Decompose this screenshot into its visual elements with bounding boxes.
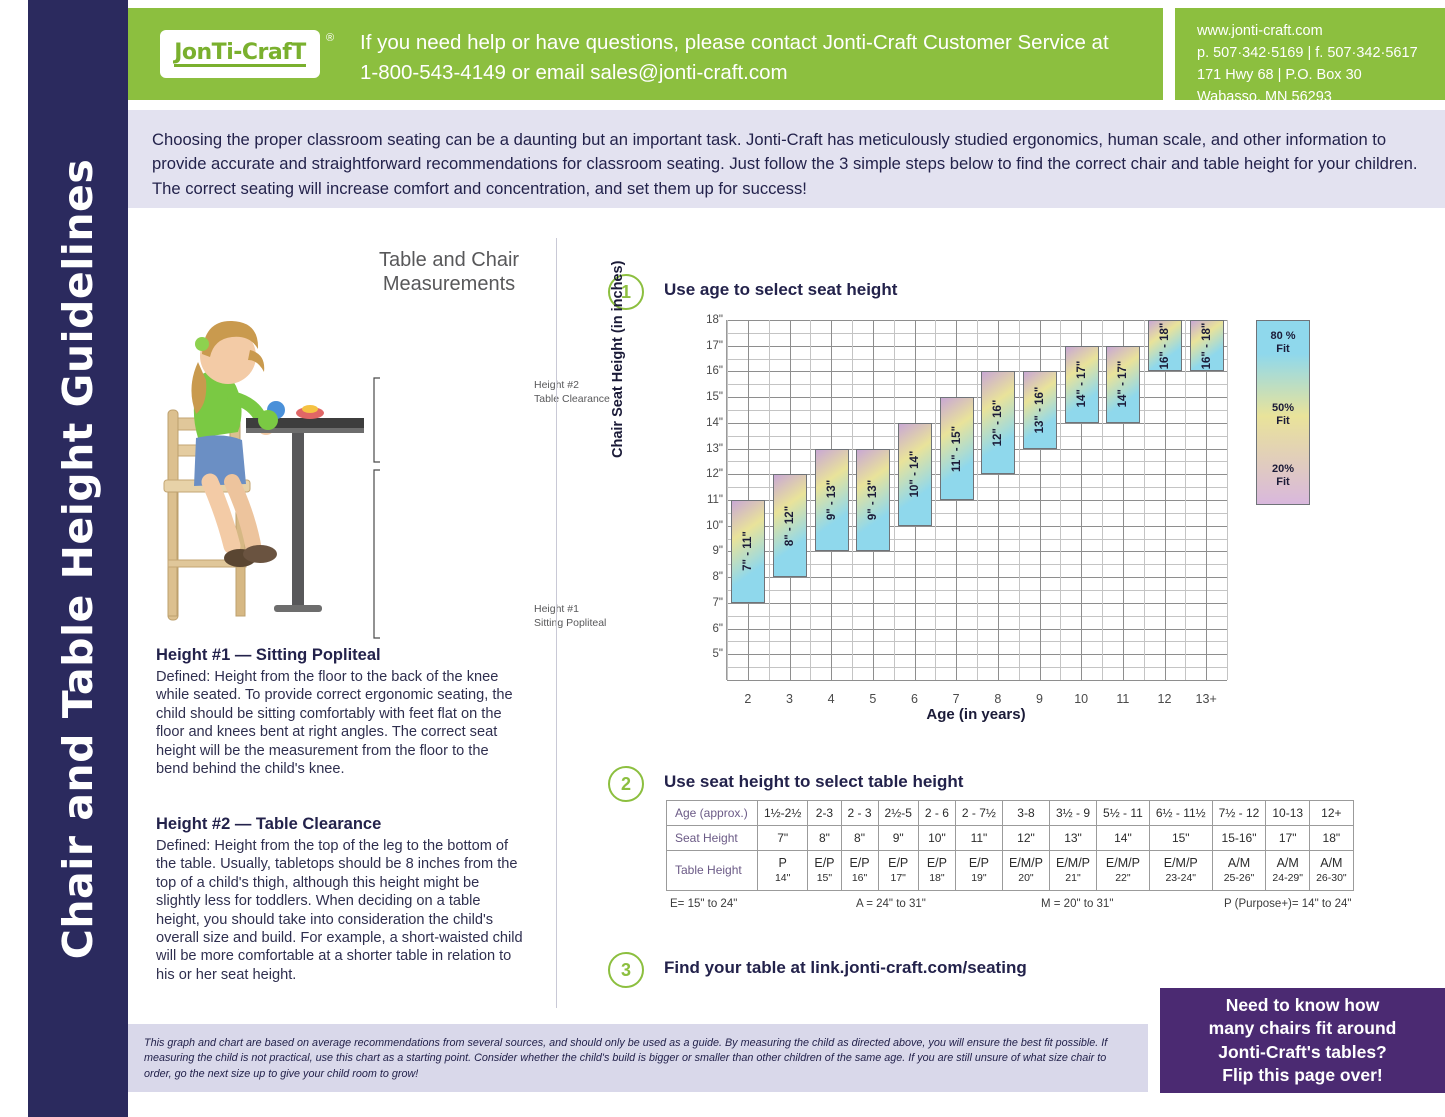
legend-50-value: 50% [1256,402,1310,415]
chart-bar: 11" - 15" [940,397,974,500]
chart-bar-label: 9" - 13" [826,480,838,520]
legend-label-50: 50% Fit [1256,402,1310,428]
step-2-title: Use seat height to select table height [664,772,963,792]
table-cell: 8" [808,826,841,851]
steps-column: 1 Use age to select seat height Chair Se… [600,230,1400,1015]
chart-y-axis-title: Chair Seat Height (in inches) [610,261,626,458]
chart-bar: 16" - 18" [1148,320,1182,371]
step-2-badge: 2 [608,766,644,802]
table-cell: A/M26-30" [1310,851,1354,891]
chart-y-tick-label: 11" [683,494,723,506]
annotation-height-1: Height #1 Sitting Popliteal [534,602,606,630]
chart-y-tick-label: 8" [683,571,723,583]
legend-80-unit: Fit [1256,343,1310,356]
table-cell: 3½ - 9 [1049,801,1096,826]
table-row: Age (approx.)1½-2½2-32 - 32½-52 - 62 - 7… [667,801,1354,826]
table-height-size: 18" [925,872,949,885]
chart-y-tick-label: 13" [683,443,723,455]
chart-bar-label: 9" - 13" [867,480,879,520]
chart-x-tick-label: 12 [1145,692,1185,706]
table-cell: 7" [758,826,808,851]
table-cell: E/P17" [878,851,918,891]
footer-disclaimer-band: This graph and chart are based on averag… [128,1024,1148,1092]
table-height-size: 25-26" [1219,872,1260,885]
chart-x-tick-label: 7 [936,692,976,706]
chart-x-tick-label: 4 [811,692,851,706]
chart-gridline-vertical [956,320,957,680]
legend-20-unit: Fit [1256,476,1310,489]
flip-line-3: Jonti-Craft's tables? [1209,1041,1397,1064]
chart-gridline-vertical [1144,320,1145,680]
intro-band: Choosing the proper classroom seating ca… [128,110,1445,208]
chart-gridline-vertical [852,320,853,680]
table-body: Age (approx.)1½-2½2-32 - 32½-52 - 62 - 7… [667,801,1354,891]
seat-to-table-height-table: Age (approx.)1½-2½2-32 - 32½-52 - 62 - 7… [666,800,1354,891]
table-cell: 2 - 6 [918,801,955,826]
chart-gridline-vertical [810,320,811,680]
chart-gridline-vertical [727,320,728,680]
chart-y-tick-label: 18" [683,314,723,326]
table-height-code: E/P [814,856,834,872]
chart-x-tick-label: 9 [1020,692,1060,706]
table-height-code: E/P [885,856,912,872]
chart-x-axis-title: Age (in years) [926,706,1025,723]
flip-line-2: many chairs fit around [1209,1017,1397,1040]
company-contact-block: www.jonti-craft.com p. 507·342·5169 | f.… [1175,8,1445,100]
legend-label-80: 80 % Fit [1256,330,1310,356]
table-cell: 2 - 7½ [955,801,1002,826]
spine-title: Chair and Table Height Guidelines [54,158,102,958]
table-cell: 2½-5 [878,801,918,826]
table-cell: E/M/P21" [1049,851,1096,891]
table-row-header: Age (approx.) [667,801,758,826]
step-1-title: Use age to select seat height [664,280,897,300]
registered-trademark-icon: ® [326,32,334,44]
chart-bar: 14" - 17" [1065,346,1099,423]
chart-gridline-vertical [1227,320,1228,680]
table-height-code: E/P [848,856,872,872]
chart-y-tick-label: 6" [683,623,723,635]
chart-bar-label: 16" - 18" [1159,322,1171,369]
footer-disclaimer-text: This graph and chart are based on averag… [144,1036,1132,1082]
table-cell: E/P18" [918,851,955,891]
chart-y-tick-label: 7" [683,597,723,609]
chart-bar: 16" - 18" [1190,320,1224,371]
chart-x-tick-label: 5 [853,692,893,706]
table-cell: 18" [1310,826,1354,851]
table-cell: 11" [955,826,1002,851]
height-2-section: Height #2 — Table Clearance Defined: Hei… [156,815,524,984]
table-cell: 14" [1097,826,1150,851]
annotation-height-2: Height #2 Table Clearance [534,378,610,406]
table-cell: 13" [1049,826,1096,851]
company-address-line-1: 171 Hwy 68 | P.O. Box 30 [1197,64,1445,86]
step-3-title[interactable]: Find your table at link.jonti-craft.com/… [664,958,1027,978]
table-cell: 6½ - 11½ [1149,801,1212,826]
chart-bar: 7" - 11" [731,500,765,603]
table-cell: 5½ - 11 [1097,801,1150,826]
key-m: M = 20" to 31" [1041,898,1113,910]
chart-x-tick-label: 8 [978,692,1018,706]
chart-bar-label: 14" - 17" [1117,361,1129,408]
child-seated-photo [150,270,380,630]
customer-service-line-1: If you need help or have questions, plea… [360,28,1140,58]
table-height-size: 21" [1056,872,1090,885]
chart-x-tick-label: 6 [895,692,935,706]
table-height-code: A/M [1316,856,1347,872]
chart-bar-label: 16" - 18" [1201,322,1213,369]
chart-y-tick-label: 16" [683,365,723,377]
legend-label-20: 20% Fit [1256,463,1310,489]
flip-line-1: Need to know how [1209,994,1397,1017]
table-cell: E/M/P20" [1002,851,1049,891]
annotation-height-1-line-1: Height #1 [534,602,606,616]
chart-bar: 8" - 12" [773,474,807,577]
table-cell: E/P16" [841,851,878,891]
table-cell: 12" [1002,826,1049,851]
measurements-title: Table and Chair Measurements [354,248,544,296]
table-height-code: E/M/P [1009,856,1043,872]
chart-plot-area: 5"6"7"8"9"10"11"12"13"14"15"16"17"18"7" … [726,320,1227,680]
chart-bar: 13" - 16" [1023,371,1057,448]
table-row-header: Seat Height [667,826,758,851]
height-annotation-brackets [372,370,552,650]
chart-gridline-vertical [1206,320,1207,680]
measurements-title-line-1: Table and Chair [354,248,544,272]
chart-gridline-vertical [977,320,978,680]
height-1-section: Height #1 — Sitting Popliteal Defined: H… [156,646,518,778]
chart-gridline-vertical [1102,320,1103,680]
table-cell: 3-8 [1002,801,1049,826]
chart-gridline-vertical [1019,320,1020,680]
column-divider [556,238,557,1008]
table-height-code: E/M/P [1056,856,1090,872]
table-cell: A/M24-29" [1266,851,1310,891]
key-a: A = 24" to 31" [856,898,926,910]
table-cell: E/P19" [955,851,1002,891]
flip-page-text: Need to know how many chairs fit around … [1209,994,1397,1087]
intro-paragraph: Choosing the proper classroom seating ca… [152,128,1421,201]
chart-bar-label: 7" - 11" [742,532,754,572]
table-height-code: E/M/P [1156,856,1206,872]
table-cell: 17" [1266,826,1310,851]
table-cell: 1½-2½ [758,801,808,826]
annotation-height-1-line-2: Sitting Popliteal [534,616,606,630]
table-height-size: 17" [885,872,912,885]
legend-50-unit: Fit [1256,415,1310,428]
table-height-size: 22" [1103,872,1143,885]
table-cell: A/M25-26" [1212,851,1266,891]
table-row: Seat Height7"8"8"9"10"11"12"13"14"15"15-… [667,826,1354,851]
chart-gridline-horizontal [727,680,1227,681]
annotation-height-2-line-1: Height #2 [534,378,610,392]
height-1-heading: Height #1 — Sitting Popliteal [156,646,518,665]
page-spine: Chair and Table Height Guidelines [28,0,128,1117]
measurements-column: Table and Chair Measurements [136,230,556,1015]
chart-bar-label: 10" - 14" [909,451,921,498]
table-height-size: 15" [814,872,834,885]
customer-service-line-2: 1-800-543-4149 or email sales@jonti-craf… [360,58,1140,88]
height-2-body: Defined: Height from the top of the leg … [156,837,524,984]
legend-20-value: 20% [1256,463,1310,476]
table-cell: 8" [841,826,878,851]
chart-x-tick-label: 3 [770,692,810,706]
flip-page-callout: Need to know how many chairs fit around … [1160,988,1445,1093]
table-row-header: Table Height [667,851,758,891]
chart-gridline-vertical [894,320,895,680]
chart-bar-label: 13" - 16" [1034,387,1046,434]
chart-bar-label: 11" - 15" [951,426,963,472]
jonti-craft-logo: JonTi-CrafT [160,30,320,78]
key-p: P (Purpose+)= 14" to 24" [1224,898,1352,910]
key-e: E= 15" to 24" [670,898,737,910]
table-cell: 7½ - 12 [1212,801,1266,826]
chart-x-tick-label: 11 [1103,692,1143,706]
table-height-code: A/M [1272,856,1303,872]
chart-gridline-vertical [935,320,936,680]
chart-y-tick-label: 15" [683,391,723,403]
table-cell: 15" [1149,826,1212,851]
table-cell: P14" [758,851,808,891]
chart-x-tick-label: 2 [728,692,768,706]
chart-bar-label: 14" - 17" [1076,361,1088,408]
table-cell: E/M/P22" [1097,851,1150,891]
chart-y-tick-label: 17" [683,340,723,352]
chart-bar: 12" - 16" [981,371,1015,474]
step-3-badge: 3 [608,952,644,988]
table-height-size: 23-24" [1156,872,1206,885]
height-2-heading: Height #2 — Table Clearance [156,815,524,834]
table-height-size: 24-29" [1272,872,1303,885]
table-cell: 12+ [1310,801,1354,826]
chart-gridline-vertical [1165,320,1166,680]
chart-y-tick-label: 10" [683,520,723,532]
table-height-size: 20" [1009,872,1043,885]
seat-height-chart: Chair Seat Height (in inches) 5"6"7"8"9"… [648,308,1388,788]
table-height-code: E/P [925,856,949,872]
customer-service-message: If you need help or have questions, plea… [360,28,1140,89]
chart-y-tick-label: 14" [683,417,723,429]
page-header: JonTi-CrafT ® If you need help or have q… [128,8,1445,100]
company-phone-fax: p. 507·342·5169 | f. 507·342·5617 [1197,42,1445,64]
chart-bar: 14" - 17" [1106,346,1140,423]
table-cell: 2 - 3 [841,801,878,826]
chart-y-tick-label: 12" [683,468,723,480]
table-row: Table HeightP14"E/P15"E/P16"E/P17"E/P18"… [667,851,1354,891]
table-cell: 10" [918,826,955,851]
table-cell: 15-16" [1212,826,1266,851]
chart-bar: 9" - 13" [856,449,890,552]
header-green-band: JonTi-CrafT ® If you need help or have q… [128,8,1163,100]
table-cell: E/M/P23-24" [1149,851,1212,891]
annotation-height-2-line-2: Table Clearance [534,392,610,406]
table-height-size: 14" [764,872,801,885]
height-1-body: Defined: Height from the floor to the ba… [156,668,518,778]
chart-y-tick-label: 9" [683,545,723,557]
measurements-title-line-2: Measurements [354,272,544,296]
legend-80-value: 80 % [1256,330,1310,343]
company-website[interactable]: www.jonti-craft.com [1197,20,1445,42]
table-height-code: E/P [962,856,996,872]
table-height-code: P [764,856,801,872]
table-height-code: A/M [1219,856,1260,872]
table-cell: 10-13 [1266,801,1310,826]
chart-x-tick-label: 13+ [1186,692,1226,706]
table-height-code: E/M/P [1103,856,1143,872]
table-height-size: 26-30" [1316,872,1347,885]
flip-line-4: Flip this page over! [1209,1064,1397,1087]
table-height-size: 19" [962,872,996,885]
chart-gridline-vertical [1185,320,1186,680]
chart-bar-label: 12" - 16" [992,399,1004,446]
company-address-line-2: Wabasso, MN 56293 [1197,86,1445,108]
chart-bar: 10" - 14" [898,423,932,526]
chart-bar-label: 8" - 12" [784,506,796,546]
chart-gridline-vertical [769,320,770,680]
table-cell: 2-3 [808,801,841,826]
chart-x-tick-label: 10 [1061,692,1101,706]
table-cell: 9" [878,826,918,851]
chart-y-tick-label: 5" [683,648,723,660]
table-cell: E/P15" [808,851,841,891]
chart-gridline-vertical [1060,320,1061,680]
table-height-size: 16" [848,872,872,885]
logo-wordmark: JonTi-CrafT [174,41,306,67]
chart-bar: 9" - 13" [815,449,849,552]
